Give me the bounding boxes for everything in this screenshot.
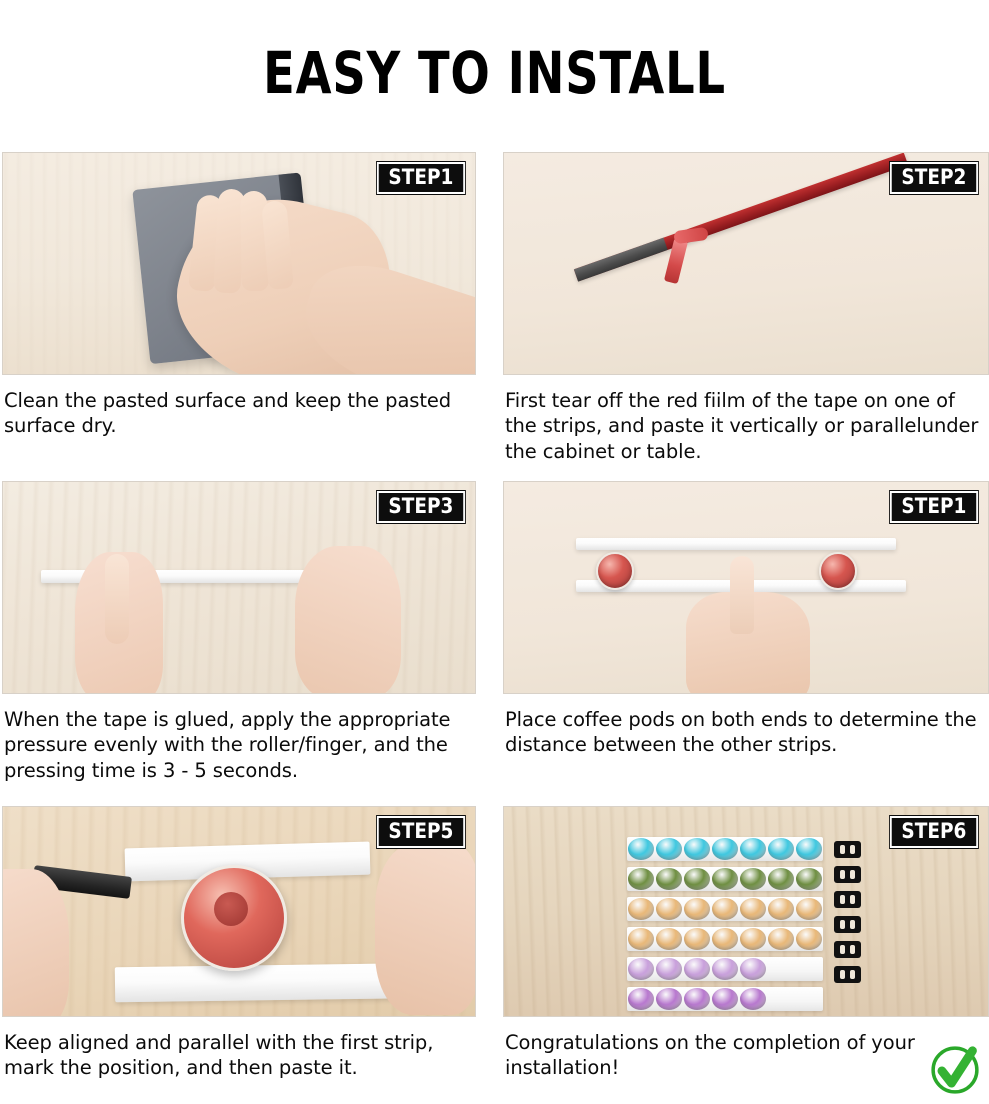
coffee-pod xyxy=(684,898,710,920)
step-photo-3: STEP3 xyxy=(2,481,476,694)
coffee-pod xyxy=(684,868,710,890)
coffee-pod xyxy=(628,958,654,980)
coffee-pod xyxy=(656,928,682,950)
strip-endcap xyxy=(834,866,861,883)
step-badge-6: STEP6 xyxy=(890,816,978,848)
coffee-pod xyxy=(628,898,654,920)
step-photo-2: STEP2 xyxy=(503,152,989,375)
step-caption-6: Congratulations on the completion of you… xyxy=(505,1030,919,1081)
step-caption-5: Keep aligned and parallel with the first… xyxy=(2,1017,476,1104)
coffee-pod xyxy=(712,928,738,950)
coffee-pod xyxy=(712,868,738,890)
coffee-pod xyxy=(712,898,738,920)
step-photo-5: STEP5 xyxy=(2,806,476,1017)
step-photo-1: STEP1 xyxy=(2,152,476,375)
coffee-pod xyxy=(684,958,710,980)
pod-strip-row xyxy=(627,957,823,981)
coffee-pod xyxy=(740,838,766,860)
step-caption-1: Clean the pasted surface and keep the pa… xyxy=(2,375,476,481)
coffee-pod xyxy=(768,868,794,890)
coffee-pod xyxy=(628,868,654,890)
coffee-pod xyxy=(628,988,654,1010)
coffee-pod xyxy=(656,898,682,920)
step-badge-3: STEP3 xyxy=(377,491,465,523)
step-badge-2: STEP2 xyxy=(890,162,978,194)
step-badge-4: STEP1 xyxy=(890,491,978,523)
green-check-circle-icon xyxy=(927,1042,983,1098)
coffee-pod xyxy=(740,988,766,1010)
coffee-pod xyxy=(712,958,738,980)
coffee-pod xyxy=(684,988,710,1010)
coffee-pod xyxy=(740,958,766,980)
coffee-pod xyxy=(768,928,794,950)
pod-strip-row xyxy=(627,897,823,921)
step-caption-6-wrap: Congratulations on the completion of you… xyxy=(503,1017,989,1104)
white-mounting-strip-top xyxy=(576,538,896,550)
strip-endcaps xyxy=(834,841,861,983)
pod-strip-row xyxy=(627,837,823,861)
step-card-2: STEP2 First tear off the red fiilm of th… xyxy=(503,152,989,481)
step-badge-1: STEP1 xyxy=(377,162,465,194)
step-card-6: STEP6 Congratulations on the completion … xyxy=(503,806,989,1104)
coffee-pod xyxy=(796,898,822,920)
coffee-pod-left xyxy=(596,552,634,590)
step-card-3: STEP3 When the tape is glued, apply the … xyxy=(0,481,476,806)
pod-strip-row xyxy=(627,867,823,891)
strip-endcap xyxy=(834,941,861,958)
coffee-pod xyxy=(712,838,738,860)
steps-grid: STEP1 Clean the pasted surface and keep … xyxy=(0,152,989,1104)
coffee-pod xyxy=(181,865,287,971)
coffee-pod xyxy=(740,928,766,950)
hand-right xyxy=(295,546,401,694)
coffee-pod xyxy=(796,838,822,860)
coffee-pod xyxy=(740,898,766,920)
index-finger xyxy=(730,556,754,634)
coffee-pod xyxy=(740,868,766,890)
hand-left xyxy=(2,869,69,1017)
strip-endcap xyxy=(834,916,861,933)
coffee-pod-right xyxy=(819,552,857,590)
coffee-pod-grid xyxy=(627,837,823,1017)
step-caption-2: First tear off the red fiilm of the tape… xyxy=(503,375,989,481)
coffee-pod xyxy=(656,838,682,860)
step-caption-4: Place coffee pods on both ends to determ… xyxy=(503,694,989,806)
coffee-pod xyxy=(768,838,794,860)
coffee-pod xyxy=(768,898,794,920)
strip-endcap xyxy=(834,966,861,983)
coffee-pod xyxy=(796,868,822,890)
step-photo-6: STEP6 xyxy=(503,806,989,1017)
index-finger-left xyxy=(105,554,129,644)
step-photo-4: STEP1 xyxy=(503,481,989,694)
step-caption-3: When the tape is glued, apply the approp… xyxy=(2,694,476,806)
pod-strip-row xyxy=(627,927,823,951)
step-card-4: STEP1 Place coffee pods on both ends to … xyxy=(503,481,989,806)
coffee-pod xyxy=(712,988,738,1010)
coffee-pod xyxy=(684,838,710,860)
hand-right xyxy=(375,843,476,1015)
pod-strip-row xyxy=(627,987,823,1011)
coffee-pod xyxy=(656,958,682,980)
strip-endcap xyxy=(834,841,861,858)
coffee-pod xyxy=(628,838,654,860)
page-title: EASY TO INSTALL xyxy=(99,39,890,113)
strip-endcap xyxy=(834,891,861,908)
step-badge-5: STEP5 xyxy=(377,816,465,848)
step-card-1: STEP1 Clean the pasted surface and keep … xyxy=(0,152,476,481)
coffee-pod xyxy=(656,868,682,890)
coffee-pod xyxy=(684,928,710,950)
coffee-pod xyxy=(656,988,682,1010)
coffee-pod xyxy=(628,928,654,950)
step-card-5: STEP5 Keep aligned and parallel with the… xyxy=(0,806,476,1104)
coffee-pod xyxy=(796,928,822,950)
